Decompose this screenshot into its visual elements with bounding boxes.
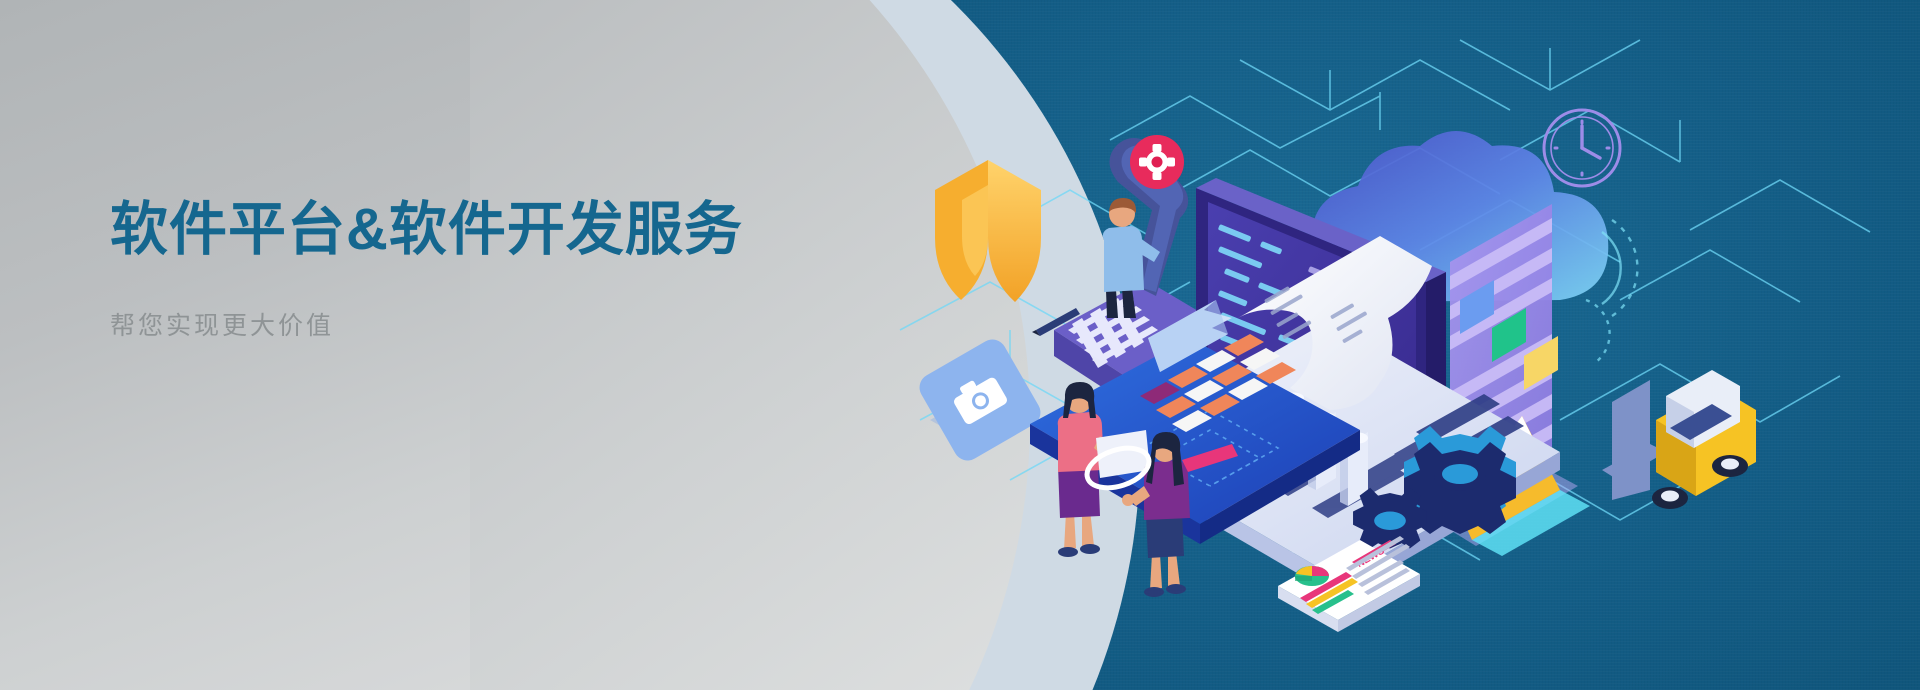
news-pie-chart	[1295, 566, 1329, 586]
banner-copy: 软件平台&软件开发服务 帮您实现更大价值	[110, 196, 830, 342]
shield-icon	[935, 160, 1041, 302]
hero-banner: NEWS	[0, 0, 1920, 690]
hero-illustration: NEWS	[860, 0, 1920, 690]
page-title: 软件平台&软件开发服务	[110, 196, 830, 264]
forklift-vehicle	[1602, 370, 1756, 509]
banner-background-grey-fill	[0, 0, 470, 690]
page-subtitle: 帮您实现更大价值	[110, 306, 830, 342]
camera-icon	[914, 334, 1045, 465]
clock-icon	[1544, 110, 1620, 186]
gear-badge-icon	[1130, 135, 1184, 189]
